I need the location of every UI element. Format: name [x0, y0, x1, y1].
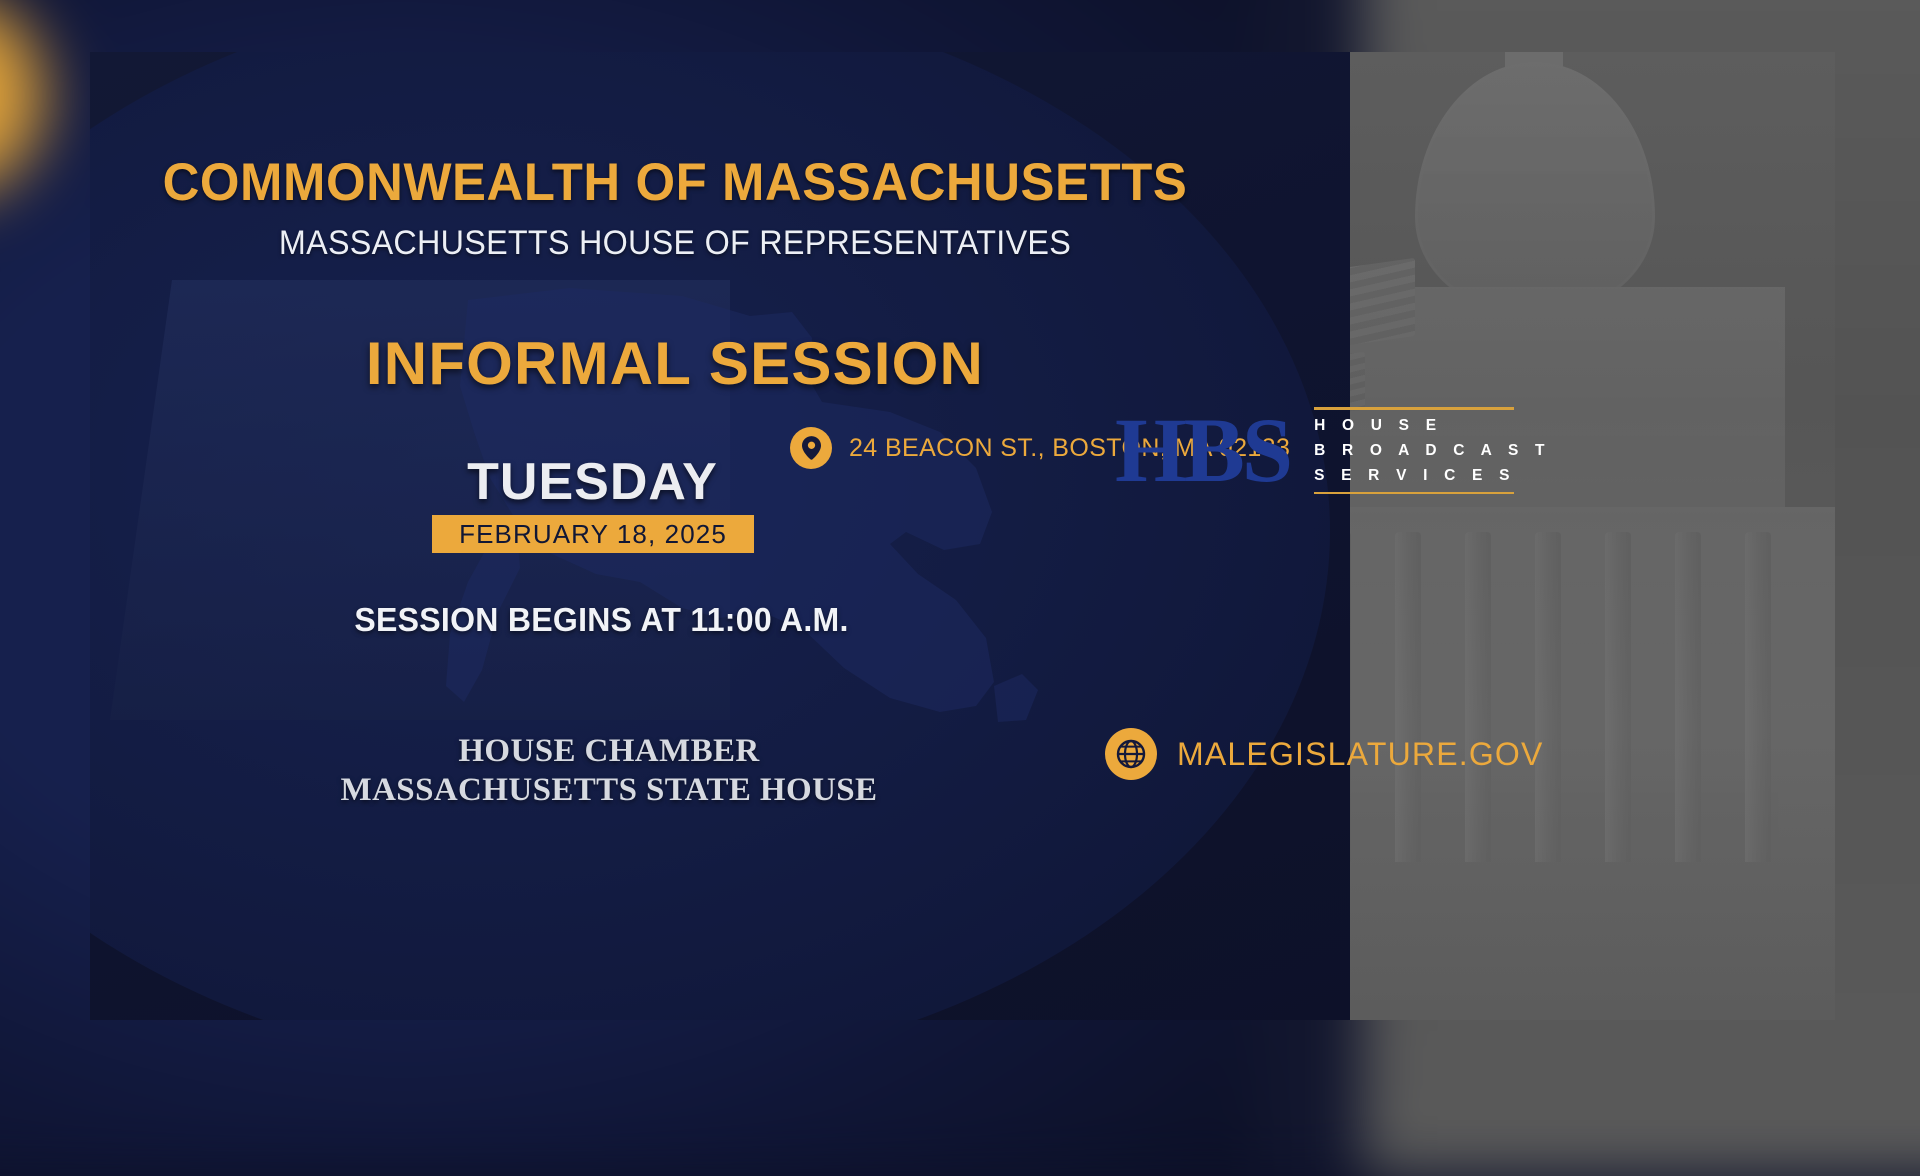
- watermark-column: [1745, 532, 1771, 862]
- session-type-headline: INFORMAL SESSION: [115, 329, 1235, 398]
- hbs-wordmark: H O U S E B R O A D C A S T S E R V I C …: [1314, 397, 1551, 504]
- page-title: COMMONWEALTH OF MASSACHUSETTS: [137, 152, 1212, 213]
- watermark-column: [1465, 532, 1491, 862]
- hbs-logo: HBS H O U S E B R O A D C A S T S E R V …: [1115, 397, 1551, 504]
- venue-line-2: MASSACHUSETTS STATE HOUSE: [250, 771, 968, 810]
- website-row[interactable]: MALEGISLATURE.GOV: [1105, 728, 1544, 780]
- watermark-column: [1395, 532, 1421, 862]
- hbs-word-line-3: S E R V I C E S: [1314, 467, 1551, 485]
- hbs-rule-top: [1314, 407, 1514, 410]
- session-start-time: SESSION BEGINS AT 11:00 A.M.: [280, 601, 923, 639]
- hbs-word-line-1: H O U S E: [1314, 417, 1551, 435]
- session-day: TUESDAY: [270, 452, 915, 512]
- watermark-column: [1605, 532, 1631, 862]
- venue-line-1: HOUSE CHAMBER: [250, 732, 968, 771]
- venue-block: HOUSE CHAMBER MASSACHUSETTS STATE HOUSE: [250, 732, 968, 810]
- watermark-column: [1535, 532, 1561, 862]
- session-date-badge: FEBRUARY 18, 2025: [432, 515, 754, 553]
- hbs-monogram: HBS: [1115, 407, 1290, 494]
- website-url[interactable]: MALEGISLATURE.GOV: [1177, 736, 1544, 773]
- session-announcement-card: COMMONWEALTH OF MASSACHUSETTS MASSACHUSE…: [90, 52, 1835, 1020]
- hbs-word-line-2: B R O A D C A S T: [1314, 442, 1551, 460]
- watermark-dome: [1415, 62, 1655, 312]
- session-date-text: FEBRUARY 18, 2025: [459, 519, 727, 550]
- hbs-rule-bottom: [1314, 492, 1514, 495]
- announcement-content: COMMONWEALTH OF MASSACHUSETTS MASSACHUSE…: [90, 52, 1350, 1020]
- globe-icon: [1105, 728, 1157, 780]
- watermark-column: [1675, 532, 1701, 862]
- page-subtitle: MASSACHUSETTS HOUSE OF REPRESENTATIVES: [143, 224, 1207, 263]
